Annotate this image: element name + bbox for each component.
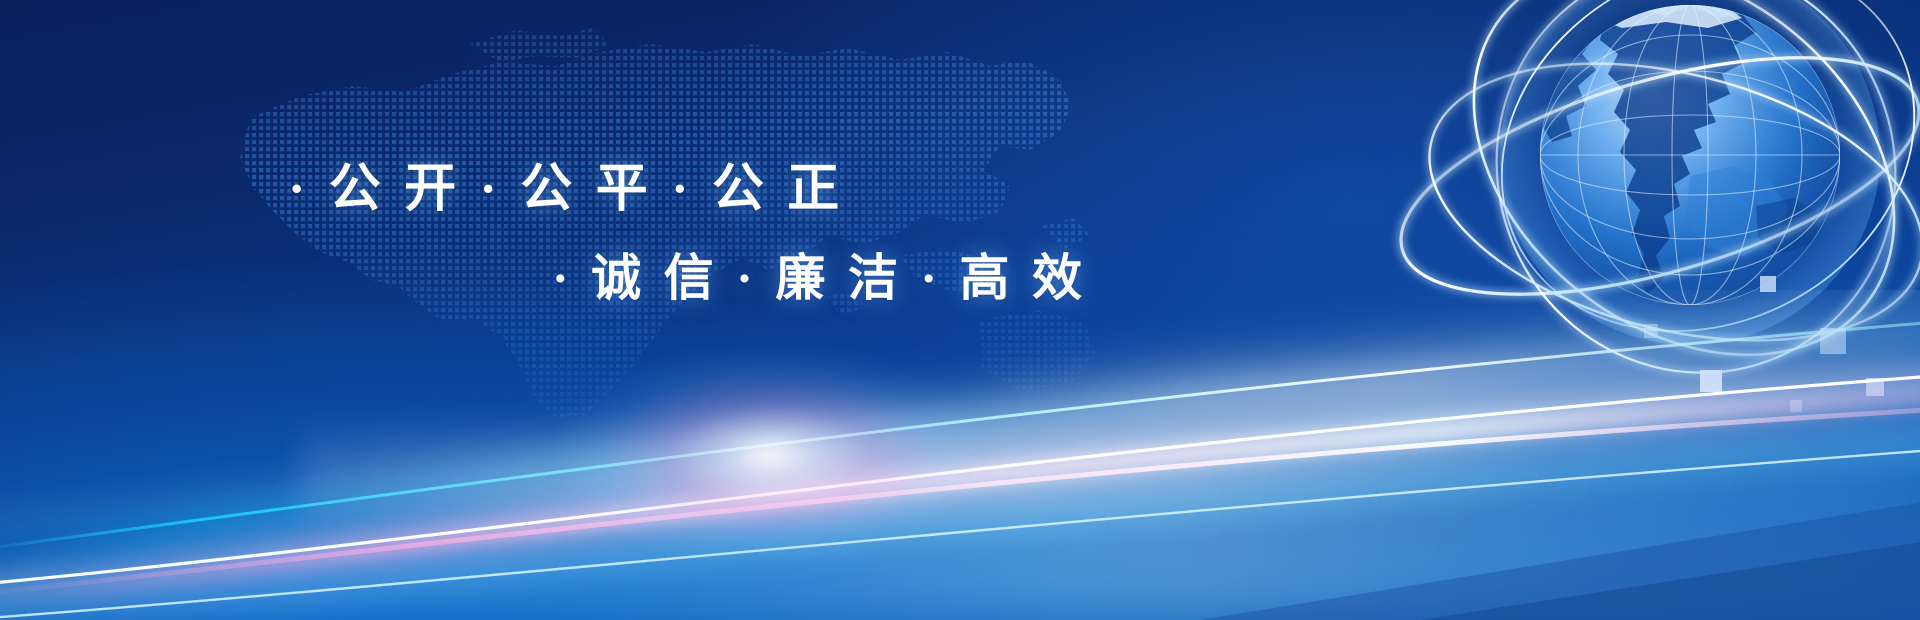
slogan-line-1: · 公 开 · 公 平 · 公 正 <box>288 146 844 221</box>
slogan-line-2: · 诚 信 · 廉 洁 · 高 效 <box>552 238 1087 310</box>
slogan-block: · 公 开 · 公 平 · 公 正 · 诚 信 · 廉 洁 · 高 效 <box>0 0 1180 340</box>
banner-root: · 公 开 · 公 平 · 公 正 · 诚 信 · 廉 洁 · 高 效 <box>0 0 1920 620</box>
